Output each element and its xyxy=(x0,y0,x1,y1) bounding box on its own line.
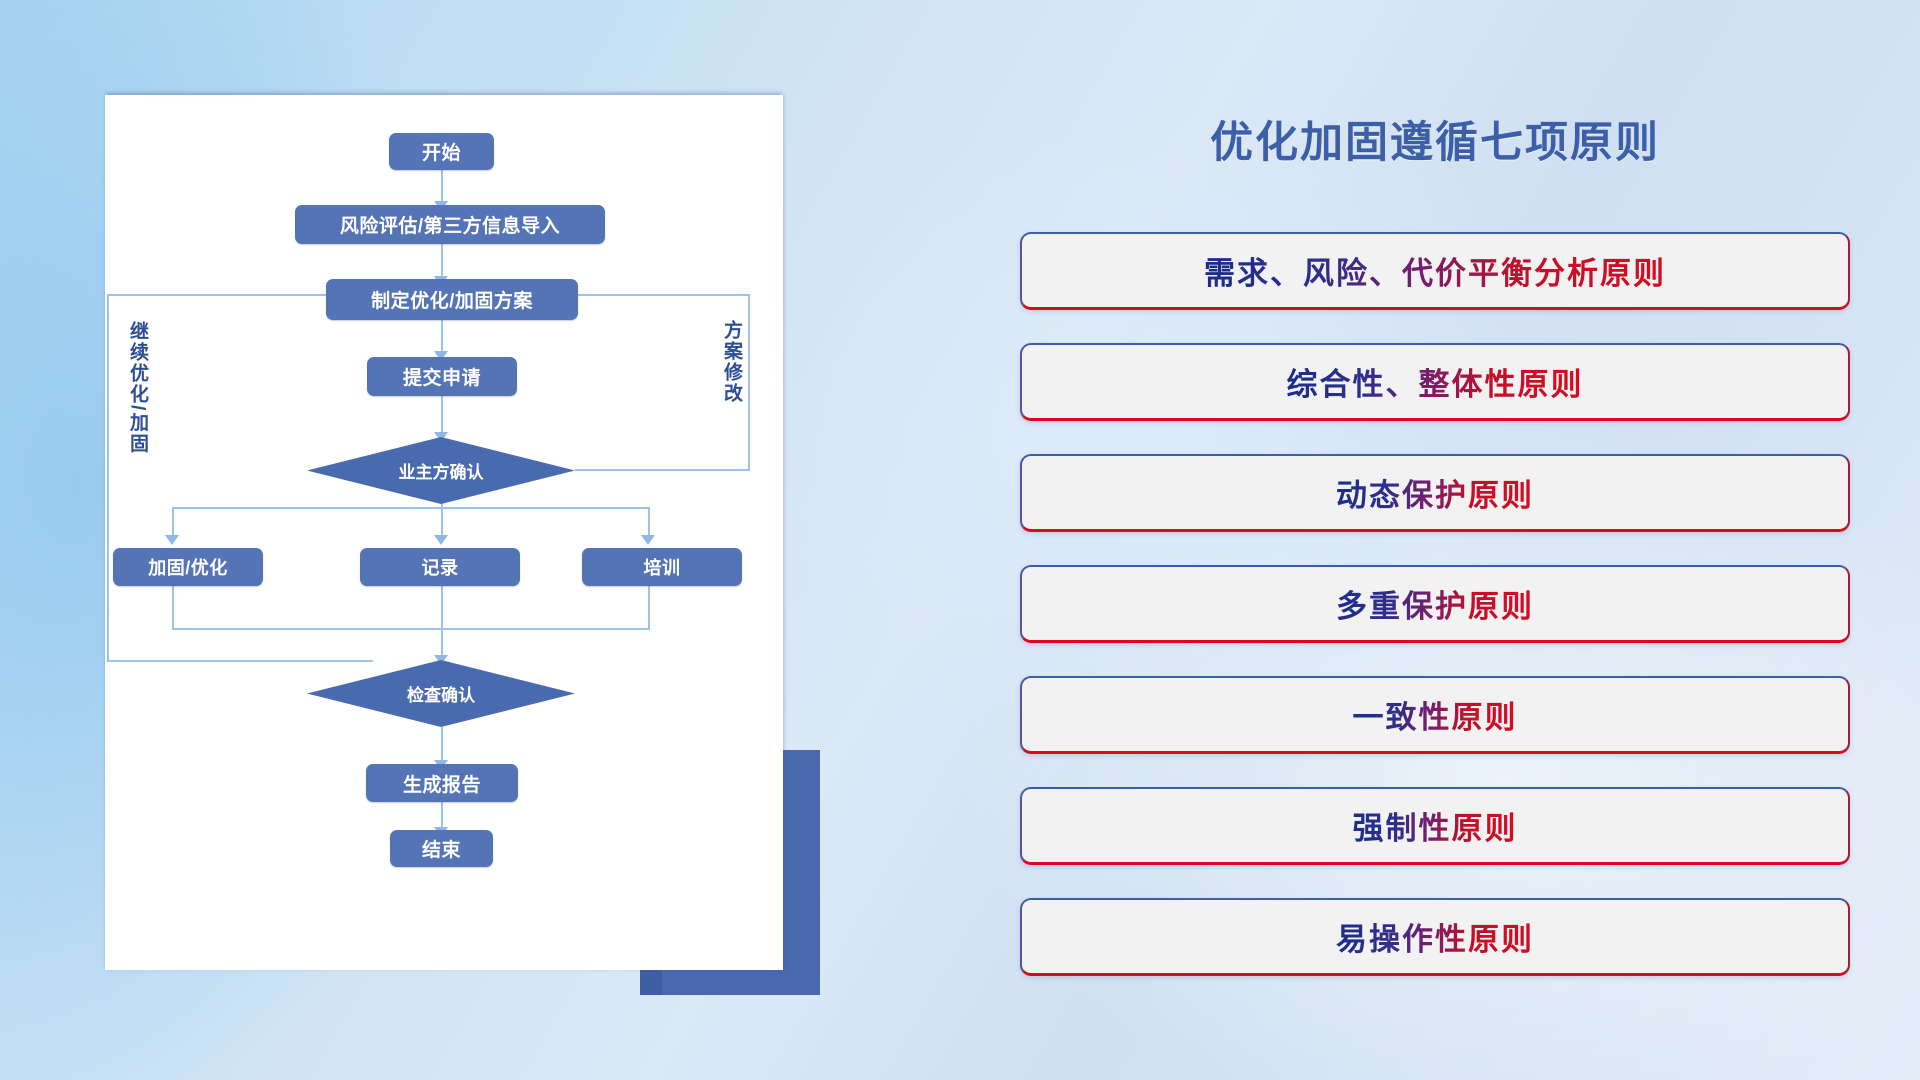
connector-record-down xyxy=(441,585,443,660)
edge-label-continue-optimize: 继续优化/加固 xyxy=(127,321,147,454)
principle-item-6[interactable]: 强制性原则 xyxy=(1020,787,1850,865)
principle-label-3: 动态保护原则 xyxy=(1336,470,1534,515)
connector-reinforce-down xyxy=(172,585,174,630)
flow-node-plan-label: 制定优化/加固方案 xyxy=(371,286,533,313)
principles-panel: 优化加固遵循七项原则 需求、风险、代价平衡分析原则 综合性、整体性原则 动态保护… xyxy=(1020,90,1850,1020)
flow-node-train-label: 培训 xyxy=(644,554,681,580)
flow-node-report-label: 生成报告 xyxy=(403,770,481,797)
flow-node-assess[interactable]: 风险评估/第三方信息导入 xyxy=(295,205,605,244)
connector-check-left xyxy=(107,660,373,662)
connector-branch-bus xyxy=(172,507,650,509)
flow-node-submit[interactable]: 提交申请 xyxy=(367,357,517,396)
principle-item-7[interactable]: 易操作性原则 xyxy=(1020,898,1850,976)
flow-node-train[interactable]: 培训 xyxy=(582,548,742,586)
principle-label-1: 需求、风险、代价平衡分析原则 xyxy=(1204,248,1666,293)
connector-right-up xyxy=(748,294,750,471)
flow-node-end[interactable]: 结束 xyxy=(390,830,493,867)
flow-node-check[interactable]: 检查确认 xyxy=(307,660,575,727)
flow-node-report[interactable]: 生成报告 xyxy=(366,764,518,802)
slide-canvas: 开始 风险评估/第三方信息导入 制定优化/加固方案 提交申请 业主方确认 加固/… xyxy=(0,0,1920,1080)
connector-submit-owner xyxy=(441,395,443,437)
flow-node-record-label: 记录 xyxy=(422,554,459,580)
principle-label-6: 强制性原则 xyxy=(1353,803,1518,848)
flow-node-end-label: 结束 xyxy=(422,835,461,862)
connector-left-vertical xyxy=(107,294,109,662)
connector-start-assess xyxy=(441,167,443,205)
principle-label-7: 易操作性原则 xyxy=(1336,914,1534,959)
connector-assess-plan xyxy=(441,242,443,280)
principle-label-4: 多重保护原则 xyxy=(1336,581,1534,626)
principle-label-5: 一致性原则 xyxy=(1353,692,1518,737)
connector-merge-bus xyxy=(172,628,650,630)
flow-node-plan[interactable]: 制定优化/加固方案 xyxy=(326,279,578,320)
connector-train-down xyxy=(648,585,650,630)
connector-left-to-plan xyxy=(107,294,267,296)
panel-title: 优化加固遵循七项原则 xyxy=(1020,108,1850,170)
arrowhead-branch-right xyxy=(641,535,655,545)
principles-list: 需求、风险、代价平衡分析原则 综合性、整体性原则 动态保护原则 多重保护原则 一… xyxy=(1020,232,1850,1009)
principle-label-2: 综合性、整体性原则 xyxy=(1287,359,1584,404)
flow-node-owner-confirm[interactable]: 业主方确认 xyxy=(307,437,575,504)
edge-label-plan-revision: 方案修改 xyxy=(721,320,741,404)
flow-node-check-label: 检查确认 xyxy=(407,681,475,706)
principle-item-1[interactable]: 需求、风险、代价平衡分析原则 xyxy=(1020,232,1850,310)
flow-node-record[interactable]: 记录 xyxy=(360,548,520,586)
flow-node-assess-label: 风险评估/第三方信息导入 xyxy=(340,211,560,238)
principle-item-3[interactable]: 动态保护原则 xyxy=(1020,454,1850,532)
flow-node-start[interactable]: 开始 xyxy=(389,133,494,170)
arrowhead-branch-mid xyxy=(434,535,448,545)
flow-node-owner-confirm-label: 业主方确认 xyxy=(399,458,484,483)
principle-item-2[interactable]: 综合性、整体性原则 xyxy=(1020,343,1850,421)
connector-owner-right xyxy=(575,469,750,471)
flowchart: 开始 风险评估/第三方信息导入 制定优化/加固方案 提交申请 业主方确认 加固/… xyxy=(105,95,783,970)
flow-node-submit-label: 提交申请 xyxy=(403,363,481,390)
flow-node-reinforce-label: 加固/优化 xyxy=(148,554,228,580)
flowchart-card: 开始 风险评估/第三方信息导入 制定优化/加固方案 提交申请 业主方确认 加固/… xyxy=(105,95,783,970)
principle-item-5[interactable]: 一致性原则 xyxy=(1020,676,1850,754)
arrowhead-branch-left xyxy=(165,535,179,545)
flow-node-start-label: 开始 xyxy=(422,138,461,165)
principle-item-4[interactable]: 多重保护原则 xyxy=(1020,565,1850,643)
flow-node-reinforce[interactable]: 加固/优化 xyxy=(113,548,263,586)
